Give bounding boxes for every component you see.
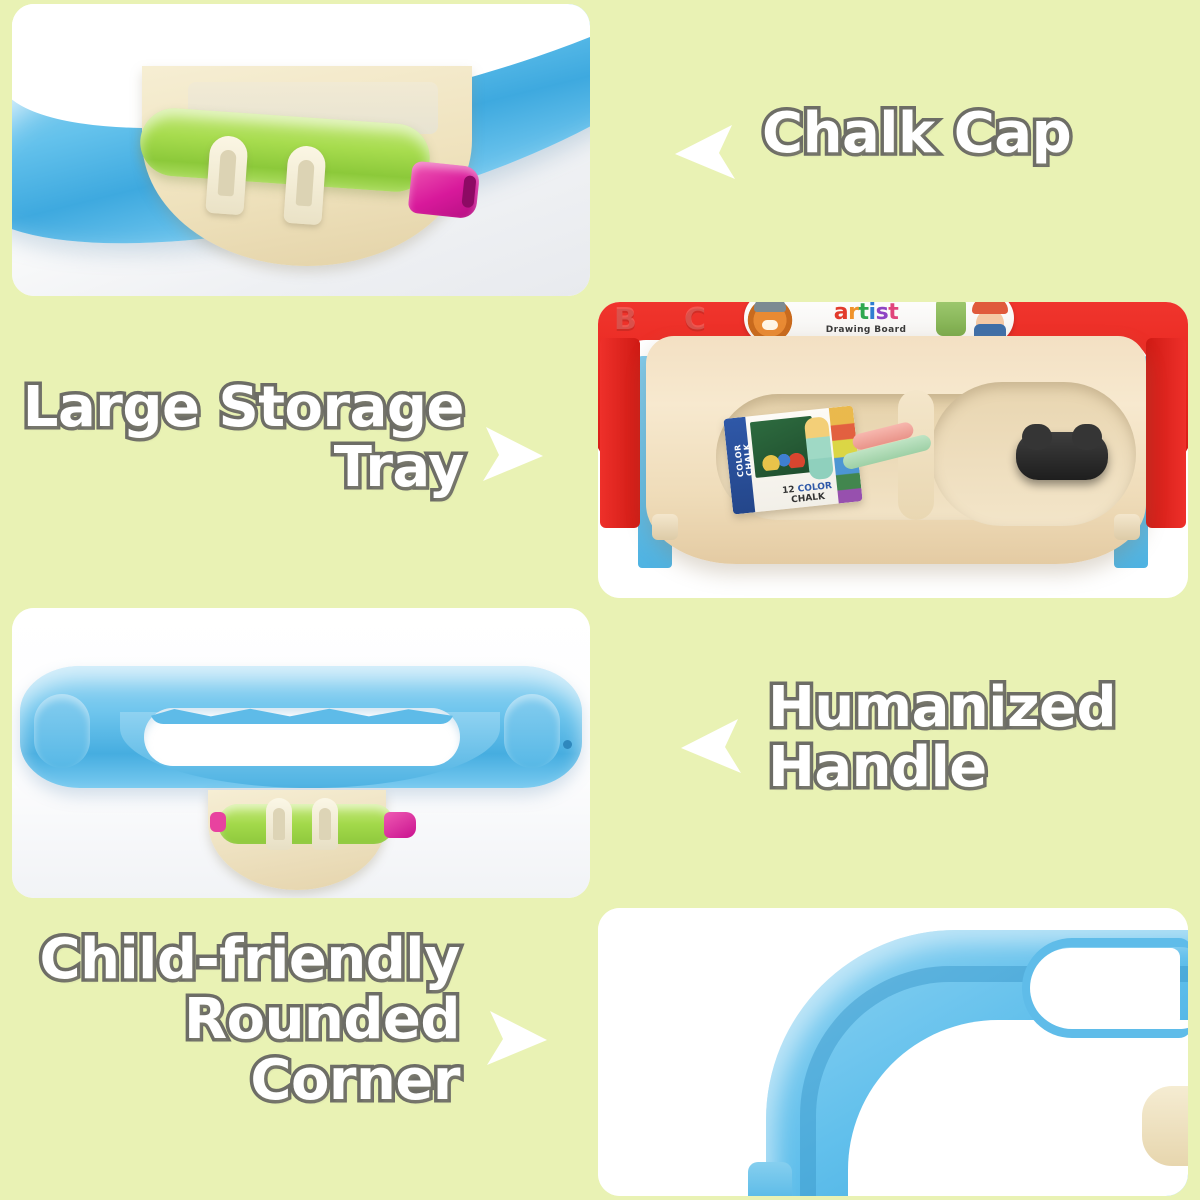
caption-humanized-handle-line1: Humanized <box>768 678 1116 738</box>
red-frame-right-post <box>1146 338 1186 528</box>
handle-slot-opening <box>144 708 460 766</box>
handle-screw-dot <box>563 740 572 749</box>
caption-storage-tray: Large Storage Tray <box>0 378 464 499</box>
chalk-box: COLOR CHALK 12 COLOR CHALK <box>723 405 862 514</box>
caption-rounded-corner: Child-friendly Rounded Corner <box>0 930 460 1111</box>
photo-handle <box>12 608 590 898</box>
caption-humanized-handle: Humanized Handle <box>768 678 1116 799</box>
caption-rounded-corner-line1: Child-friendly <box>0 930 460 990</box>
logo-letter-r: r <box>848 302 858 325</box>
corner-bottom-tab <box>748 1162 792 1196</box>
feature-collage: B C artist Drawing Board <box>0 0 1200 1200</box>
logo-letter-t: t <box>859 302 869 325</box>
tray-knob-left <box>652 514 678 540</box>
caption-humanized-handle-line2: Handle <box>768 738 1116 798</box>
caption-chalk-cap: Chalk Cap <box>762 104 1071 164</box>
caption-storage-tray-line2: Tray <box>0 438 464 498</box>
caption-rounded-corner-line2: Rounded <box>0 990 460 1050</box>
caption-rounded-corner-line3: Corner <box>0 1051 460 1111</box>
logo-subtitle: Drawing Board <box>796 326 936 335</box>
handle-side-grip-left <box>34 694 90 768</box>
cream-edge-fragment <box>1142 1086 1188 1166</box>
chalk-box-stick-graphic <box>804 416 834 480</box>
green-chalk-rod <box>218 804 394 844</box>
pink-chalk-tip <box>210 812 226 832</box>
left-arrow-icon <box>678 716 746 778</box>
holder-clip-left <box>205 135 248 215</box>
right-arrow-icon <box>482 1008 550 1070</box>
storage-tray: COLOR CHALK 12 COLOR CHALK <box>646 336 1146 564</box>
black-eraser <box>1016 432 1108 480</box>
pink-chalk-cap <box>407 161 480 220</box>
handle-side-grip-right <box>504 694 560 768</box>
photo-rounded-corner <box>598 908 1188 1196</box>
pink-chalk-cap <box>384 812 416 838</box>
holder-clip-right <box>312 798 338 850</box>
embossed-letter-b: B <box>614 302 637 337</box>
holder-clip-left <box>266 798 292 850</box>
right-arrow-icon <box>478 424 546 486</box>
logo-letter-s: s <box>876 302 889 325</box>
paint-cup-icon <box>936 302 966 336</box>
left-arrow-icon <box>672 122 740 184</box>
photo-storage-tray: B C artist Drawing Board <box>598 302 1188 598</box>
embossed-letter-c: C <box>684 302 706 337</box>
corner-notch <box>1030 948 1180 1028</box>
girl-artist-icon <box>966 302 1014 340</box>
bear-icon <box>744 302 796 340</box>
logo-letter-i: i <box>869 302 876 325</box>
photo-chalk-cap <box>12 4 590 296</box>
logo-letter-t2: t <box>888 302 898 325</box>
logo-letter-a: a <box>834 302 848 325</box>
logo-text-group: artist Drawing Board <box>796 302 936 335</box>
tray-knob-right <box>1114 514 1140 540</box>
caption-chalk-cap-line1: Chalk Cap <box>762 104 1071 164</box>
logo-word-artist: artist <box>796 302 936 324</box>
red-frame-left-post <box>600 338 640 528</box>
caption-storage-tray-line1: Large Storage <box>0 378 464 438</box>
holder-clip-right <box>283 145 326 225</box>
